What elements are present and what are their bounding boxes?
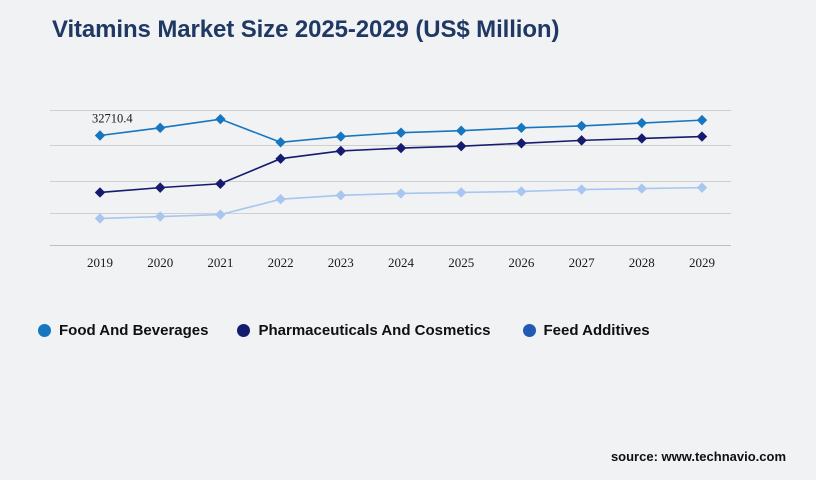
legend-label-feed-additives: Feed Additives	[544, 322, 650, 339]
data-point-marker[interactable]	[576, 135, 586, 145]
data-point-marker[interactable]	[275, 154, 285, 164]
legend-item-feed-additives[interactable]: Feed Additives	[523, 322, 650, 339]
x-axis-tick-label: 2028	[629, 255, 655, 270]
x-axis-tick-label: 2019	[87, 255, 113, 270]
x-axis-tick-label: 2022	[268, 255, 294, 270]
data-point-marker[interactable]	[396, 127, 406, 137]
data-point-marker[interactable]	[95, 187, 105, 197]
data-point-marker[interactable]	[336, 146, 346, 156]
line-chart-plot: 2019202020212022202320242025202620272028…	[0, 0, 816, 300]
data-point-marker[interactable]	[516, 123, 526, 133]
data-point-marker[interactable]	[637, 118, 647, 128]
data-point-marker[interactable]	[456, 126, 466, 136]
data-point-marker[interactable]	[275, 194, 285, 204]
x-axis-tick-label: 2024	[388, 255, 415, 270]
data-point-marker[interactable]	[576, 184, 586, 194]
data-point-marker[interactable]	[215, 114, 225, 124]
data-point-marker[interactable]	[396, 188, 406, 198]
legend-item-pharmaceuticals-and-cosmetics[interactable]: Pharmaceuticals And Cosmetics	[237, 322, 490, 339]
data-point-marker[interactable]	[637, 183, 647, 193]
data-point-marker[interactable]	[215, 209, 225, 219]
x-axis-tick-label: 2026	[508, 255, 535, 270]
x-axis-tick-labels: 2019202020212022202320242025202620272028…	[87, 255, 715, 270]
legend-marker-pharmaceuticals-and-cosmetics	[237, 324, 250, 337]
data-point-marker[interactable]	[155, 123, 165, 133]
legend-label-pharmaceuticals-and-cosmetics: Pharmaceuticals And Cosmetics	[258, 322, 490, 339]
data-point-labels: 32710.4	[92, 112, 133, 126]
data-point-marker[interactable]	[576, 121, 586, 131]
data-point-marker[interactable]	[637, 133, 647, 143]
x-axis-tick-label: 2021	[207, 255, 233, 270]
chart-root: Vitamins Market Size 2025-2029 (US$ Mill…	[0, 0, 816, 480]
x-axis-tick-label: 2025	[448, 255, 474, 270]
x-axis-tick-label: 2023	[328, 255, 354, 270]
data-point-marker[interactable]	[396, 143, 406, 153]
x-axis-tick-label: 2020	[147, 255, 173, 270]
data-point-marker[interactable]	[95, 213, 105, 223]
data-point-value-label: 32710.4	[92, 112, 133, 126]
chart-legend: Food And Beverages Pharmaceuticals And C…	[38, 322, 650, 339]
legend-item-food-and-beverages[interactable]: Food And Beverages	[38, 322, 208, 339]
data-point-marker[interactable]	[516, 186, 526, 196]
data-point-marker[interactable]	[336, 190, 346, 200]
legend-marker-feed-additives	[523, 324, 536, 337]
data-point-marker[interactable]	[516, 138, 526, 148]
source-attribution: source: www.technavio.com	[611, 449, 786, 464]
legend-label-food-and-beverages: Food And Beverages	[59, 322, 208, 339]
data-point-marker[interactable]	[215, 179, 225, 189]
data-point-marker[interactable]	[456, 187, 466, 197]
data-point-marker[interactable]	[697, 182, 707, 192]
legend-marker-food-and-beverages	[38, 324, 51, 337]
data-point-marker[interactable]	[336, 131, 346, 141]
data-point-marker[interactable]	[697, 131, 707, 141]
data-point-marker[interactable]	[155, 211, 165, 221]
data-point-marker[interactable]	[697, 115, 707, 125]
x-axis-tick-label: 2029	[689, 255, 715, 270]
gridlines-group	[50, 111, 731, 246]
data-point-marker[interactable]	[155, 182, 165, 192]
x-axis-tick-label: 2027	[569, 255, 596, 270]
data-point-marker[interactable]	[95, 130, 105, 140]
data-point-marker[interactable]	[456, 141, 466, 151]
series-group	[95, 114, 707, 224]
